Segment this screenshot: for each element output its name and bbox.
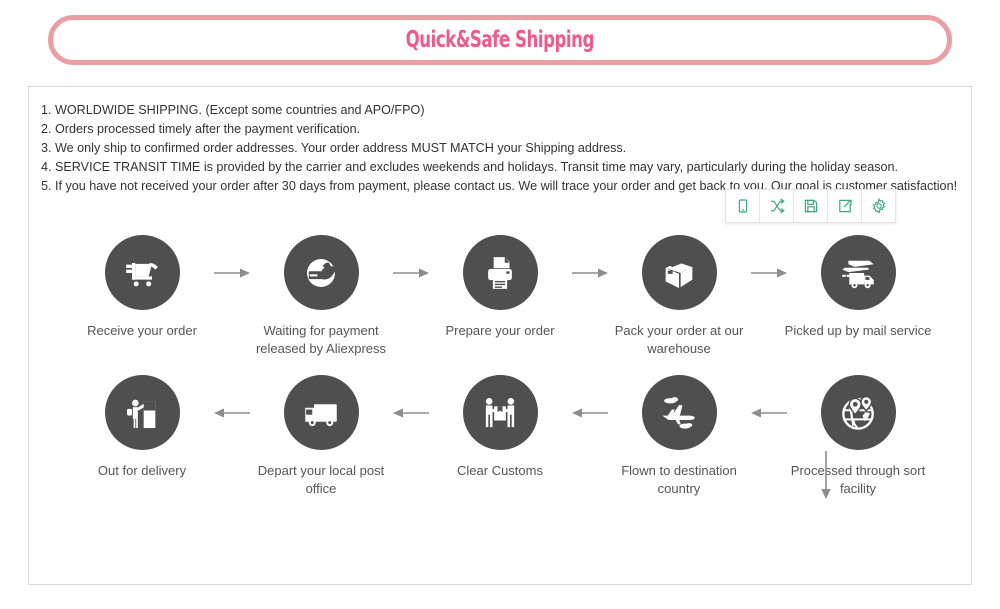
shuffle-icon[interactable] — [760, 190, 794, 222]
content-panel: 1. WORLDWIDE SHIPPING. (Except some coun… — [28, 86, 972, 585]
floating-toolbar[interactable] — [725, 189, 896, 223]
flow-step-label: Waiting for payment released by Aliexpre… — [246, 322, 396, 358]
shopping-cart-icon — [105, 235, 180, 310]
flow-step-label: Pack your order at our warehouse — [604, 322, 754, 358]
shipping-policy-text: 1. WORLDWIDE SHIPPING. (Except some coun… — [41, 101, 963, 196]
flow-step-receive-order: Receive your order — [73, 235, 212, 340]
printer-icon — [463, 235, 538, 310]
share-icon[interactable] — [828, 190, 862, 222]
delivery-person-icon — [105, 375, 180, 450]
flow-arrow-down — [816, 451, 836, 499]
hand-card-payment-icon — [284, 235, 359, 310]
flow-step-label: Flown to destination country — [604, 462, 754, 498]
flow-step-sort-facility: Processed through sort facility — [789, 375, 928, 498]
flow-arrow-left — [212, 375, 252, 450]
flow-step-label: Receive your order — [67, 322, 217, 340]
flow-step-pack-order: Pack your order at our warehouse — [610, 235, 749, 358]
flow-step-label: Prepare your order — [425, 322, 575, 340]
flow-step-label: Clear Customs — [425, 462, 575, 480]
shipping-flow-diagram: Receive your order — [29, 235, 971, 498]
flow-step-label: Out for delivery — [67, 462, 217, 480]
flow-arrow-right — [212, 235, 252, 310]
globe-pins-icon — [821, 375, 896, 450]
flow-arrow-right — [391, 235, 431, 310]
flow-step-out-for-delivery: Out for delivery — [73, 375, 212, 480]
flow-step-flown-destination: Flown to destination country — [610, 375, 749, 498]
save-icon[interactable] — [794, 190, 828, 222]
page-title-text: Quick&Safe Shipping — [406, 27, 594, 53]
flow-row-1: Receive your order — [29, 235, 971, 358]
flow-step-picked-up-mail: Picked up by mail service — [789, 235, 928, 340]
mail-truck-icon — [821, 235, 896, 310]
airplane-icon — [642, 375, 717, 450]
flow-step-label: Processed through sort facility — [783, 462, 933, 498]
package-box-icon — [642, 235, 717, 310]
policy-line-2: 2. Orders processed timely after the pay… — [41, 120, 963, 139]
policy-line-1: 1. WORLDWIDE SHIPPING. (Except some coun… — [41, 101, 963, 120]
mobile-preview-icon[interactable] — [726, 190, 760, 222]
flow-step-label: Depart your local post office — [246, 462, 396, 498]
flow-step-depart-post-office: Depart your local post office — [252, 375, 391, 498]
title-banner: Quick&Safe Shipping — [48, 15, 952, 65]
flow-arrow-right — [749, 235, 789, 310]
flow-step-label: Picked up by mail service — [783, 322, 933, 340]
flow-arrow-left — [391, 375, 431, 450]
customs-inspection-icon — [463, 375, 538, 450]
flow-step-waiting-payment: Waiting for payment released by Aliexpre… — [252, 235, 391, 358]
delivery-truck-icon — [284, 375, 359, 450]
policy-line-4: 4. SERVICE TRANSIT TIME is provided by t… — [41, 158, 963, 177]
flow-arrow-left — [749, 375, 789, 450]
flow-step-prepare-order: Prepare your order — [431, 235, 570, 340]
flow-step-clear-customs: Clear Customs — [431, 375, 570, 480]
policy-line-3: 3. We only ship to confirmed order addre… — [41, 139, 963, 158]
flow-arrow-right — [570, 235, 610, 310]
page-title: Quick&Safe Shipping — [53, 27, 947, 53]
flow-arrow-left — [570, 375, 610, 450]
gear-icon[interactable] — [862, 190, 895, 222]
